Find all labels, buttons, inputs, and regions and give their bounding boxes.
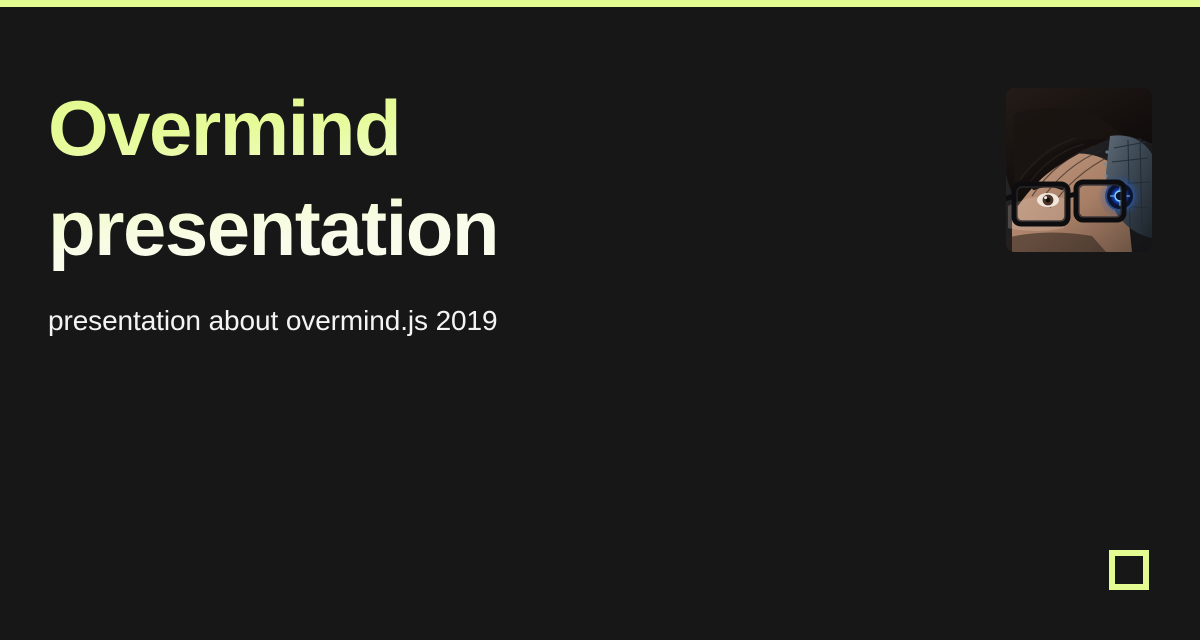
card-content: Overmind presentation presentation about… [48,78,948,340]
square-outline-logo-icon [1109,550,1149,590]
top-accent-bar [0,0,1200,7]
avatar-image [1006,88,1152,252]
page-title: Overmind presentation [48,78,888,278]
page-subtitle: presentation about overmind.js 2019 [48,278,948,340]
avatar [1006,88,1152,252]
social-card: Overmind presentation presentation about… [0,0,1200,640]
